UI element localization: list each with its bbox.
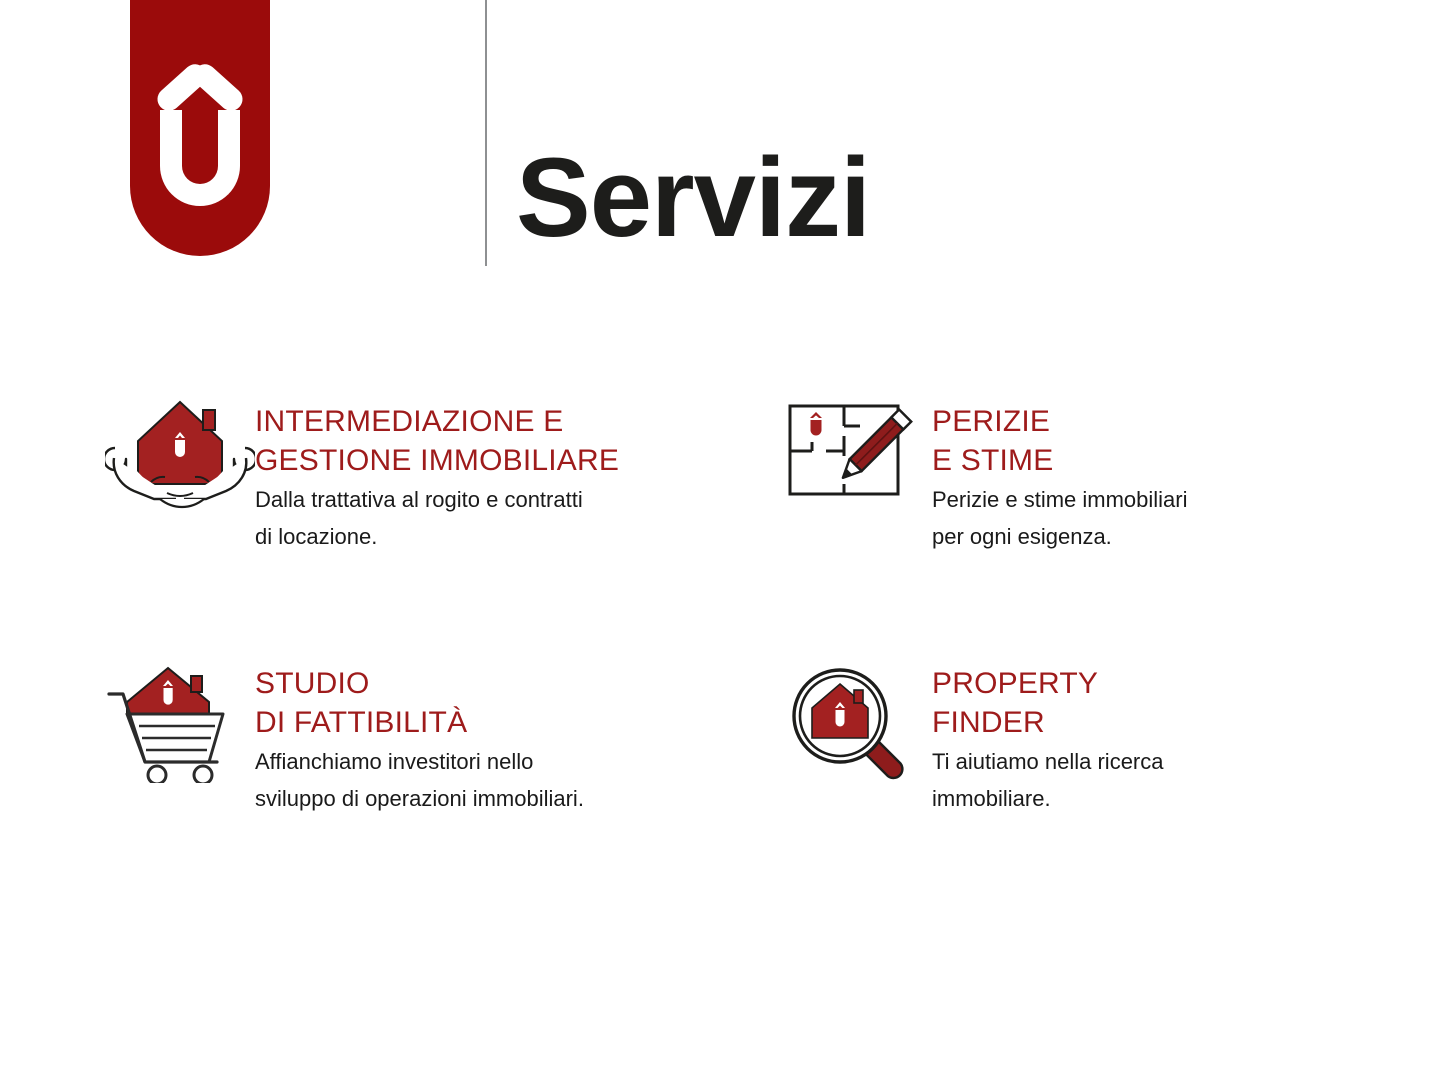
service-heading: INTERMEDIAZIONE E GESTIONE IMMOBILIARE (255, 402, 725, 480)
service-item-property-finder[interactable]: PROPERTY FINDER Ti aiutiamo nella ricerc… (782, 658, 1342, 817)
shopping-cart-house-icon (105, 658, 255, 783)
service-text: INTERMEDIAZIONE E GESTIONE IMMOBILIARE D… (255, 396, 725, 555)
magnifier-house-icon (782, 658, 932, 783)
logo-chevron-icon (158, 62, 242, 108)
service-description: Perizie e stime immobiliari per ogni esi… (932, 481, 1342, 555)
services-row: INTERMEDIAZIONE E GESTIONE IMMOBILIARE D… (0, 396, 1440, 658)
service-text: STUDIO DI FATTIBILITÀ Affianchiamo inves… (255, 658, 725, 817)
service-item-intermediazione[interactable]: INTERMEDIAZIONE E GESTIONE IMMOBILIARE D… (105, 396, 725, 555)
logo-u-icon (160, 110, 240, 206)
service-heading: PERIZIE E STIME (932, 402, 1342, 480)
service-description: Ti aiutiamo nella ricerca immobiliare. (932, 743, 1342, 817)
page-header: Servizi (0, 0, 1440, 300)
service-text: PROPERTY FINDER Ti aiutiamo nella ricerc… (932, 658, 1342, 817)
header-divider (485, 0, 487, 266)
services-grid: INTERMEDIAZIONE E GESTIONE IMMOBILIARE D… (0, 396, 1440, 920)
floorplan-pencil-icon (782, 396, 932, 516)
hands-holding-house-icon (105, 396, 255, 516)
page-title: Servizi (516, 142, 870, 254)
service-heading: PROPERTY FINDER (932, 664, 1342, 742)
service-description: Affianchiamo investitori nello sviluppo … (255, 743, 725, 817)
service-text: PERIZIE E STIME Perizie e stime immobili… (932, 396, 1342, 555)
service-description: Dalla trattativa al rogito e contratti d… (255, 481, 725, 555)
brand-logo (130, 0, 270, 256)
services-row: STUDIO DI FATTIBILITÀ Affianchiamo inves… (0, 658, 1440, 920)
service-item-perizie-e-stime[interactable]: PERIZIE E STIME Perizie e stime immobili… (782, 396, 1342, 555)
service-item-studio-di-fattibilita[interactable]: STUDIO DI FATTIBILITÀ Affianchiamo inves… (105, 658, 725, 817)
service-heading: STUDIO DI FATTIBILITÀ (255, 664, 725, 742)
